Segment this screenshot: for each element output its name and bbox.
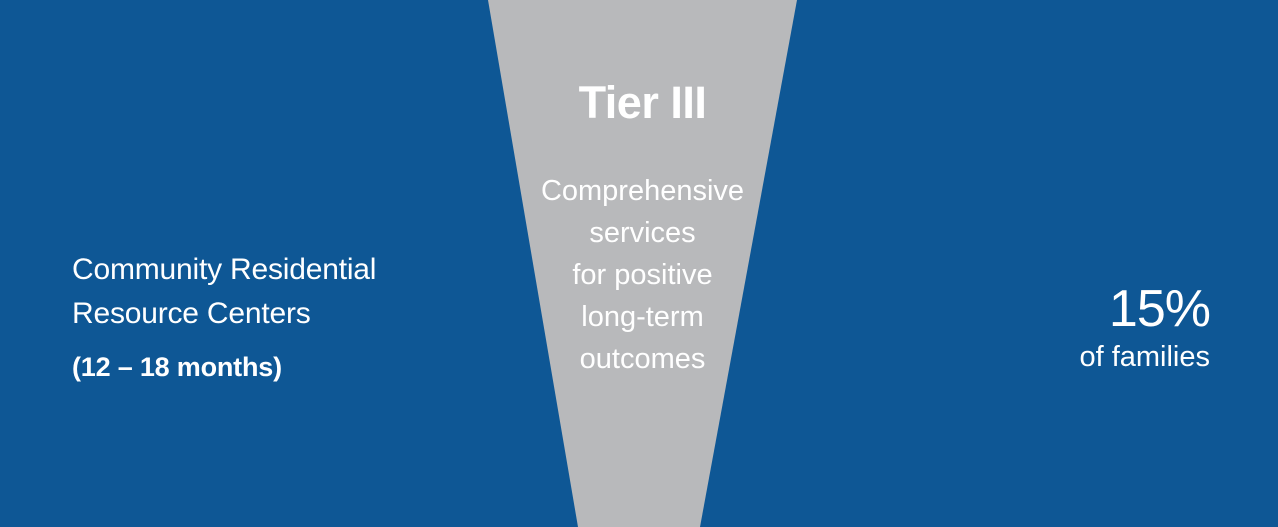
- program-duration: (12 – 18 months): [72, 352, 472, 383]
- program-name-line: Resource Centers: [72, 292, 472, 336]
- funnel-tier-title: Tier III: [488, 80, 797, 125]
- tier-three-infographic: Tier III Comprehensive services for posi…: [0, 0, 1278, 527]
- families-stat-label: of families: [1079, 340, 1210, 374]
- program-name: Community Residential Resource Centers: [72, 248, 472, 336]
- funnel-description-line: services: [488, 212, 797, 254]
- program-name-line: Community Residential: [72, 248, 472, 292]
- program-label-block: Community Residential Resource Centers (…: [72, 248, 472, 383]
- families-stat-value: 15%: [1079, 282, 1210, 336]
- funnel-description-line: Comprehensive: [488, 170, 797, 212]
- funnel-description-line: for positive: [488, 254, 797, 296]
- funnel-description: Comprehensive services for positive long…: [488, 170, 797, 380]
- families-stat-block: 15% of families: [1079, 282, 1210, 374]
- funnel-text-container: Tier III Comprehensive services for posi…: [488, 0, 797, 527]
- funnel-description-line: outcomes: [488, 338, 797, 380]
- funnel-description-line: long-term: [488, 296, 797, 338]
